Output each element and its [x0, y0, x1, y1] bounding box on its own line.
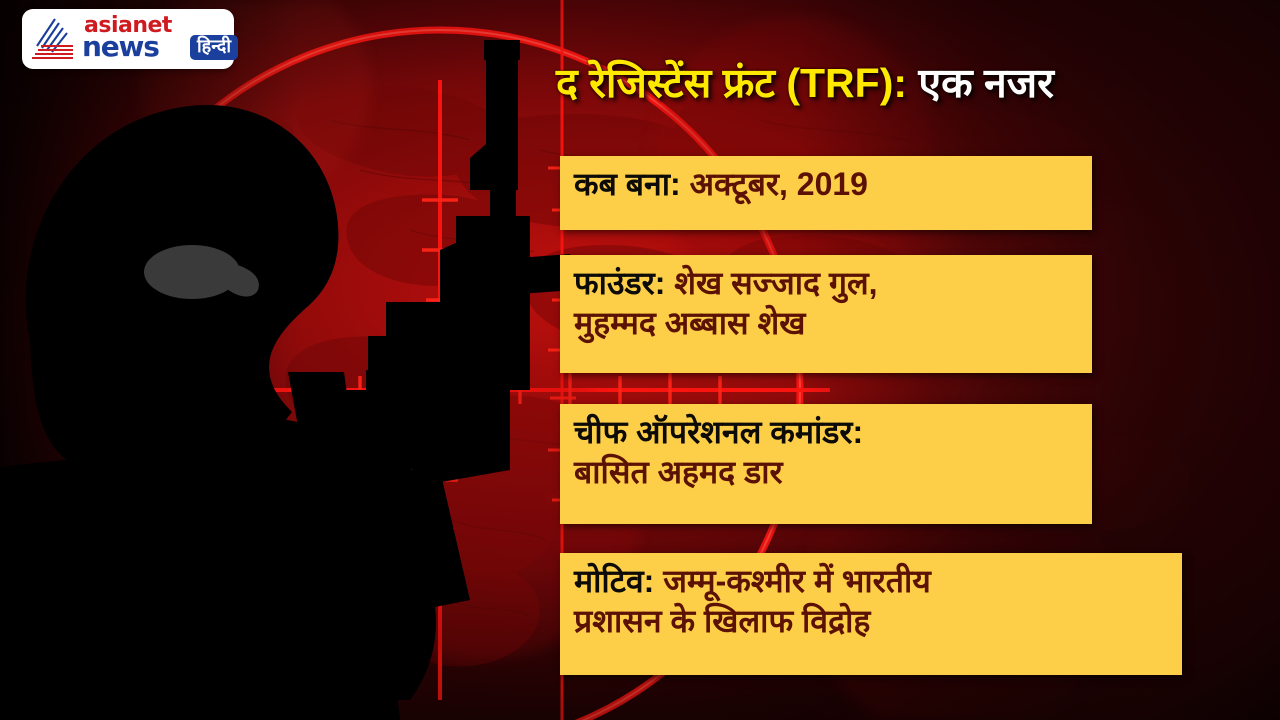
- fact-label: चीफ ऑपरेशनल कमांडर:: [574, 414, 863, 450]
- fact-box-founded: कब बना: अक्टूबर, 2019: [560, 156, 1092, 230]
- logo-hindi-badge: हिन्दी: [190, 35, 238, 60]
- fact-value: जम्मू-कश्मीर में भारतीय: [654, 563, 931, 599]
- fact-value: शेख सज्जाद गुल,: [665, 265, 877, 301]
- page-title-secondary: एक नजर: [907, 60, 1054, 106]
- fact-value: अक्टूबर, 2019: [681, 166, 868, 202]
- logo-wordmark: asianet news हिन्दी: [84, 15, 234, 63]
- masked-gunman-silhouette: [0, 40, 610, 720]
- fact-line-2: प्रशासन के खिलाफ विद्रोह: [574, 601, 1168, 641]
- fact-box-founder: फाउंडर: शेख सज्जाद गुल, मुहम्मद अब्बास श…: [560, 255, 1092, 373]
- fact-box-chief-operational-commander: चीफ ऑपरेशनल कमांडर: बासित अहमद डार: [560, 404, 1092, 524]
- fact-value: बासित अहमद डार: [574, 454, 783, 490]
- fact-line: मोटिव: जम्मू-कश्मीर में भारतीय: [574, 561, 1168, 601]
- fact-line: फाउंडर: शेख सज्जाद गुल,: [574, 263, 1078, 303]
- infographic-canvas: asianet news हिन्दी द रेजिस्टेंस फ्रंट (…: [0, 0, 1280, 720]
- asianet-news-hindi-logo[interactable]: asianet news हिन्दी: [22, 9, 234, 69]
- fact-value-continued: मुहम्मद अब्बास शेख: [574, 305, 805, 341]
- page-title: द रेजिस्टेंस फ्रंट (TRF): एक नजर: [556, 57, 1276, 109]
- fact-value-continued: प्रशासन के खिलाफ विद्रोह: [574, 603, 870, 639]
- fact-label: मोटिव:: [574, 563, 654, 599]
- logo-news-text: news: [82, 33, 159, 61]
- page-title-primary: द रेजिस्टेंस फ्रंट (TRF):: [556, 60, 907, 106]
- fact-line-2: बासित अहमद डार: [574, 452, 1078, 492]
- fact-label: कब बना:: [574, 166, 681, 202]
- fact-line: चीफ ऑपरेशनल कमांडर:: [574, 412, 1078, 452]
- asianet-a-mark-icon: [29, 16, 83, 62]
- fact-line-2: मुहम्मद अब्बास शेख: [574, 303, 1078, 343]
- fact-box-motive: मोटिव: जम्मू-कश्मीर में भारतीय प्रशासन क…: [560, 553, 1182, 675]
- fact-line: कब बना: अक्टूबर, 2019: [574, 164, 1078, 204]
- fact-label: फाउंडर:: [574, 265, 665, 301]
